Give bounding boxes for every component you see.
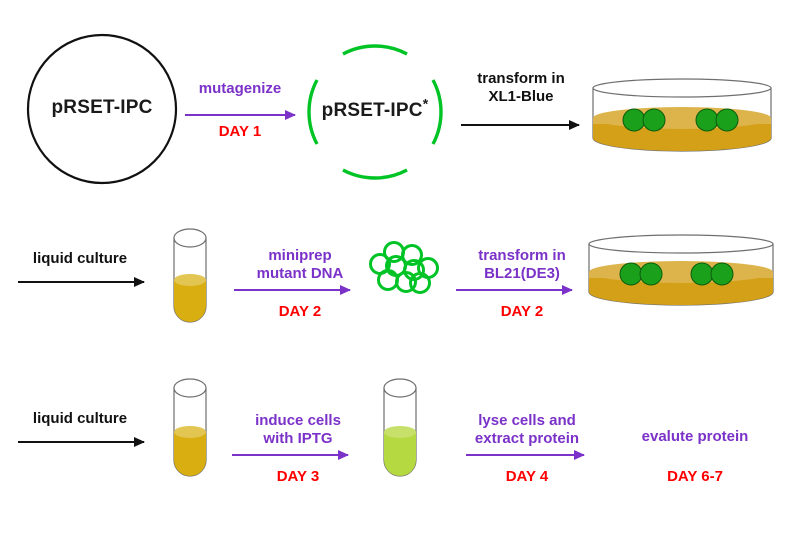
- step-mutagenize-arrow: [185, 110, 295, 120]
- culture-tube-green: [378, 378, 422, 480]
- plasmid-mutant-asterisk: *: [423, 96, 429, 112]
- petri-dish-icon: [590, 78, 775, 160]
- step-transform-bl21-arrow: [456, 285, 572, 295]
- petri-dish-icon: [586, 232, 776, 316]
- mutant-plasmid-cluster: [368, 238, 442, 302]
- step-induce-label: induce cells with IPTG: [228, 412, 368, 447]
- plasmid-cluster-icon: [368, 238, 442, 302]
- plasmid-mutant-label: pRSET-IPC*: [299, 100, 451, 122]
- step-evaluate-day: DAY 6-7: [610, 468, 780, 486]
- workflow-diagram: pRSET-IPC mutagenize DAY 1 pRSET-IPC* tr…: [0, 0, 797, 543]
- step-lyse-label: lyse cells and extract protein: [452, 412, 602, 447]
- plasmid-wildtype: pRSET-IPC: [26, 33, 178, 185]
- row3-incoming-arrow: [18, 437, 144, 447]
- plasmid-wildtype-label: pRSET-IPC: [26, 97, 178, 119]
- culture-tube-icon: [168, 228, 212, 326]
- culture-tube-gold-row3: [168, 378, 212, 480]
- step-miniprep-arrow: [234, 285, 350, 295]
- step-miniprep-day: DAY 2: [230, 303, 370, 321]
- culture-tube-icon: [378, 378, 422, 480]
- step-evaluate-label: evalute protein: [610, 428, 780, 446]
- plate-bl21: [586, 232, 776, 316]
- step-mutagenize-label: mutagenize: [180, 80, 300, 98]
- plasmid-mutant: pRSET-IPC*: [299, 36, 451, 188]
- step-lyse-arrow: [466, 450, 584, 460]
- row2-incoming-arrow: [18, 277, 144, 287]
- step-induce-arrow: [232, 450, 348, 460]
- plasmid-mutant-name: pRSET-IPC: [322, 100, 423, 121]
- step-induce-day: DAY 3: [228, 468, 368, 486]
- step-mutagenize-day: DAY 1: [180, 123, 300, 141]
- culture-tube-icon: [168, 378, 212, 480]
- plate-xl1: [590, 78, 775, 160]
- step-transform-xl1-label: transform in XL1-Blue: [456, 70, 586, 105]
- culture-tube-gold-row2: [168, 228, 212, 326]
- row2-incoming-label: liquid culture: [10, 250, 150, 268]
- step-transform-bl21-label: transform in BL21(DE3): [452, 247, 592, 282]
- step-lyse-day: DAY 4: [452, 468, 602, 486]
- row3-incoming-label: liquid culture: [10, 410, 150, 428]
- step-miniprep-label: miniprep mutant DNA: [230, 247, 370, 282]
- step-transform-bl21-day: DAY 2: [452, 303, 592, 321]
- step-transform-xl1-arrow: [461, 120, 579, 130]
